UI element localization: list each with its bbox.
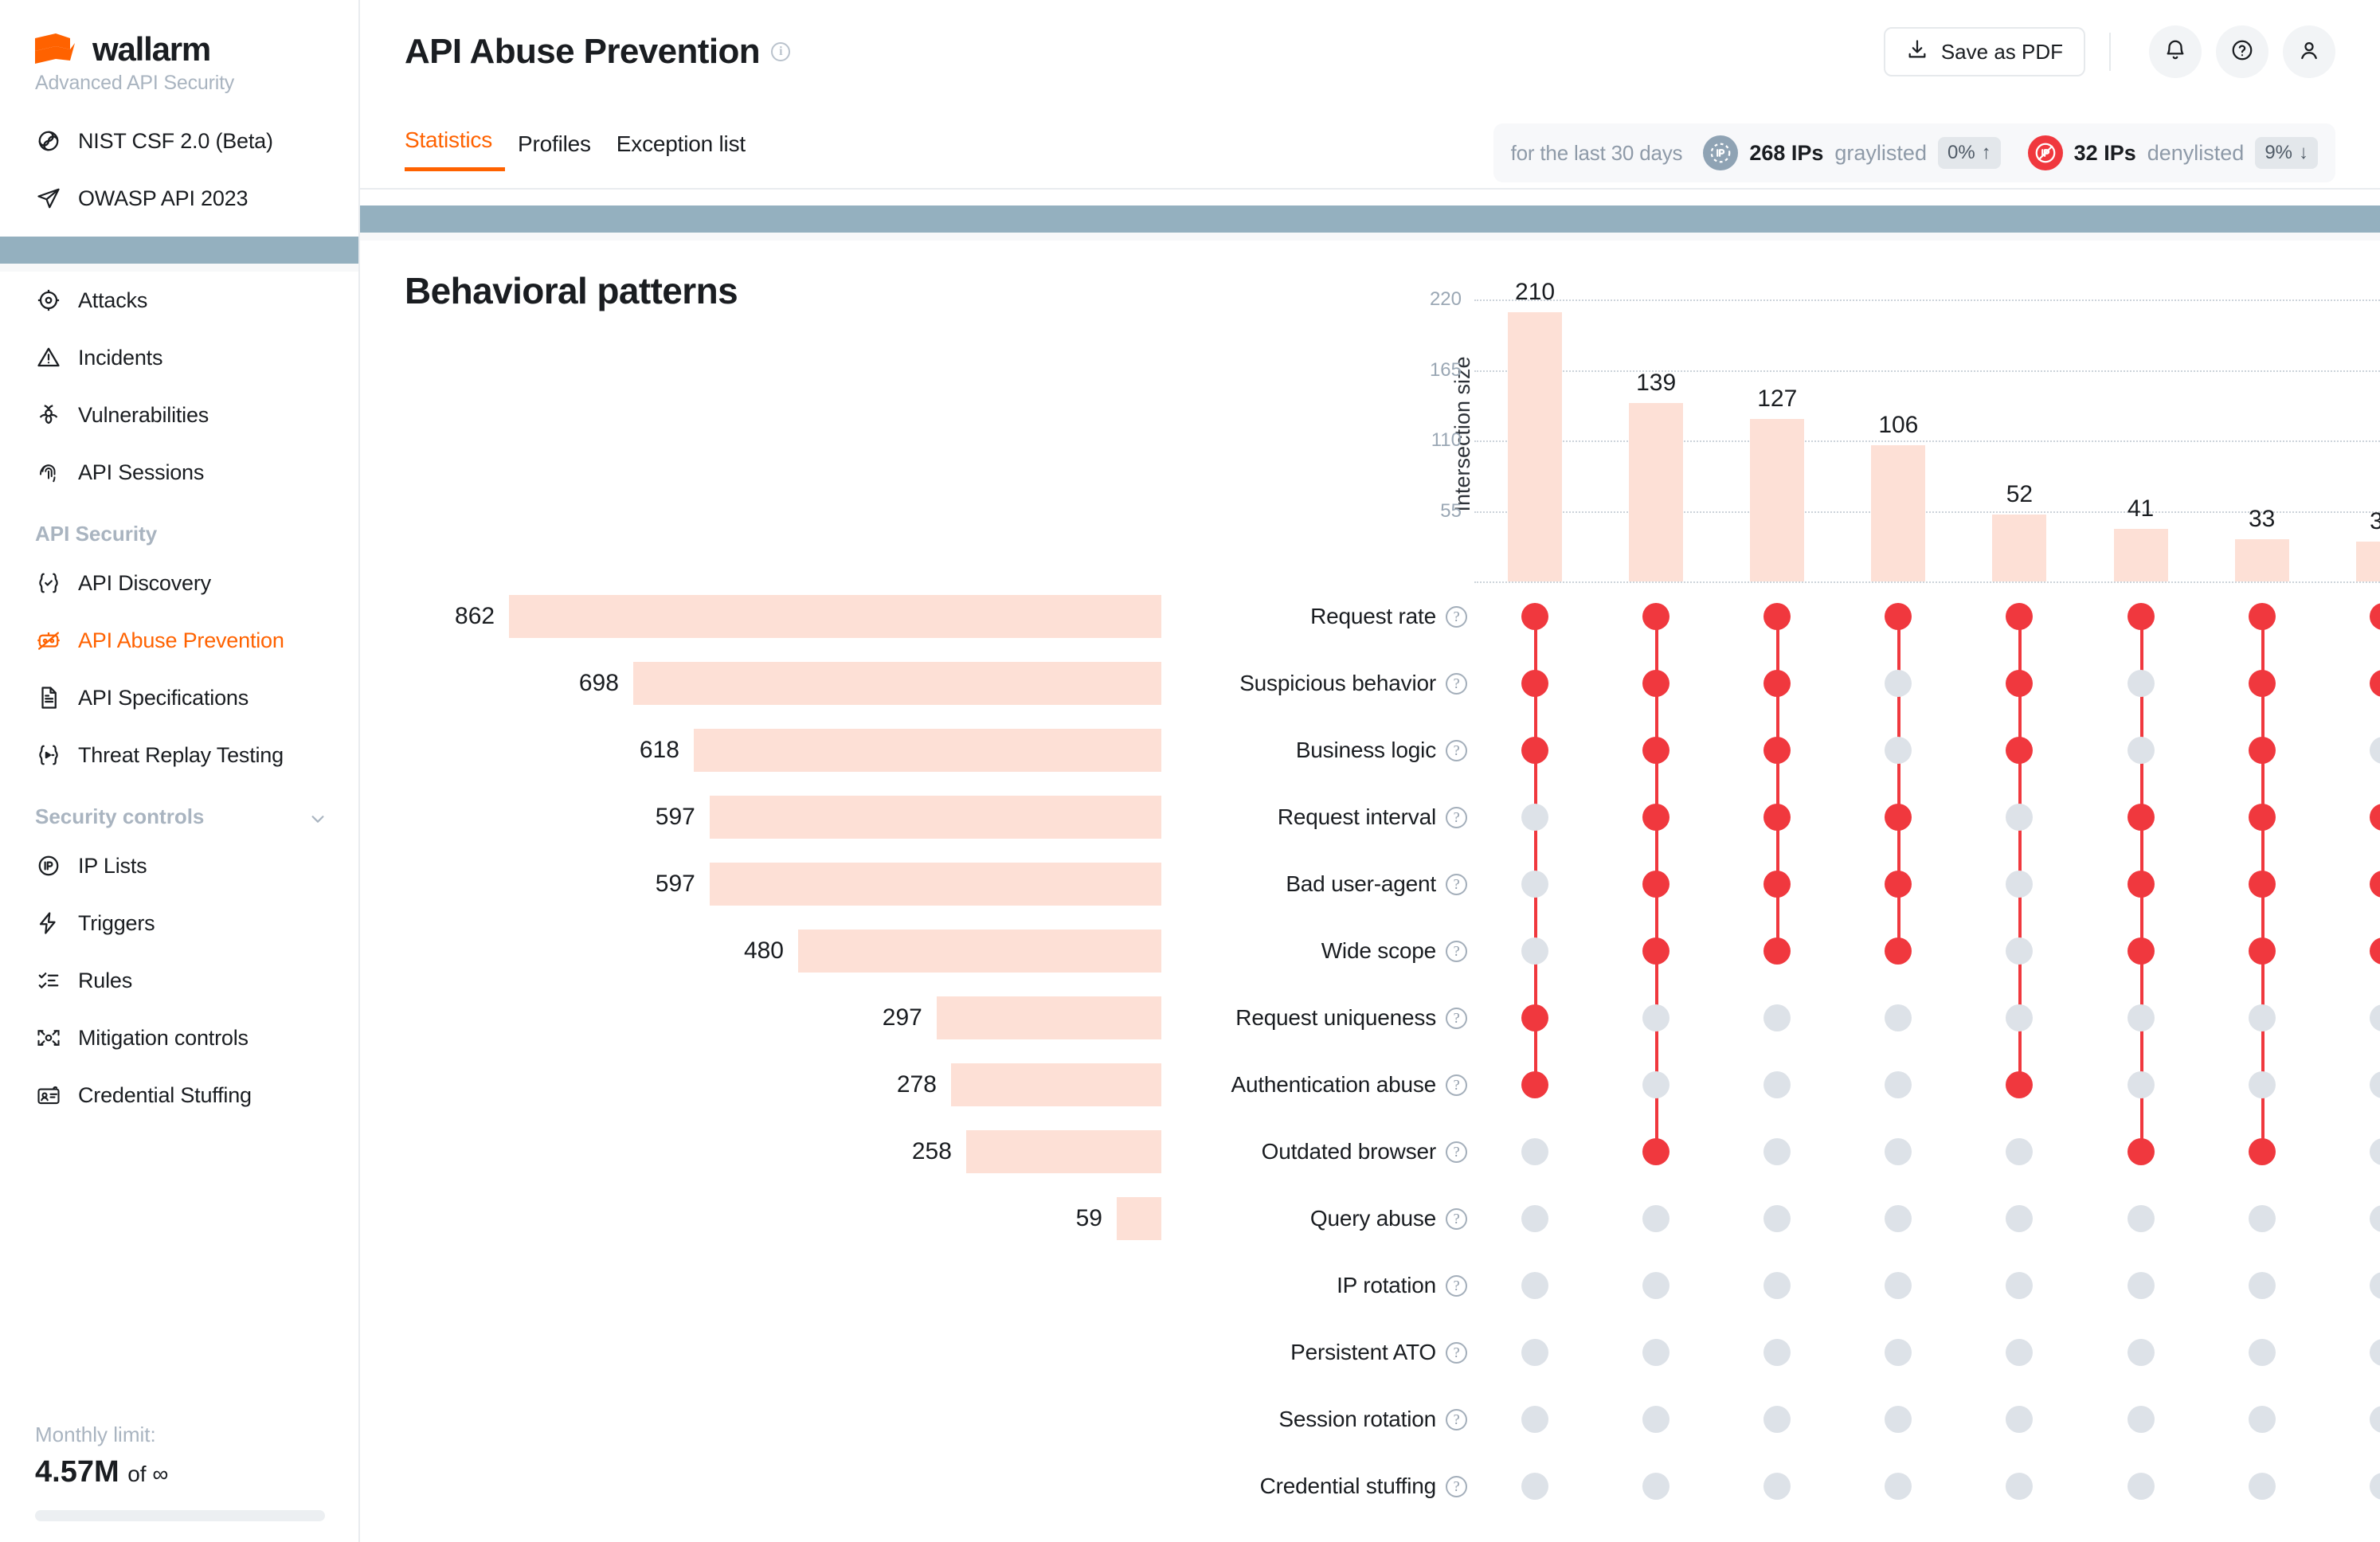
sidebar-item-triggers[interactable]: Triggers	[0, 894, 358, 952]
bot-disabled-icon	[35, 627, 62, 654]
matrix-dot-inactive[interactable]	[2128, 1473, 2155, 1500]
y-tick-label: 110	[1431, 429, 1462, 452]
category-labels: Request rate?Suspicious behavior?Busines…	[1165, 583, 1467, 1520]
sidebar-divider-band	[0, 237, 358, 264]
matrix-dot-inactive[interactable]	[1642, 1071, 1670, 1098]
header-divider	[360, 188, 2380, 190]
intersection-bar-value: 210	[1515, 279, 1555, 306]
category-label: IP rotation	[1337, 1273, 1436, 1298]
wallarm-wordmark: wallarm	[92, 30, 210, 68]
matrix-dot-active[interactable]	[1521, 737, 1548, 764]
brand-tagline: Advanced API Security	[35, 72, 358, 95]
sidebar-label: Attacks	[78, 288, 147, 313]
matrix-dot-inactive[interactable]	[1885, 1473, 1912, 1500]
matrix-dot-active[interactable]	[2249, 871, 2276, 898]
help-tooltip-icon[interactable]: ?	[1446, 1476, 1467, 1497]
matrix-dot-active[interactable]	[1885, 937, 1912, 965]
info-icon[interactable]: i	[771, 42, 790, 61]
matrix-dot-inactive[interactable]	[1521, 1138, 1548, 1165]
logo-row[interactable]: wallarm	[35, 30, 358, 68]
matrix-dot-inactive[interactable]	[2006, 1406, 2033, 1433]
help-tooltip-icon[interactable]: ?	[1446, 606, 1467, 628]
sidebar-label: NIST CSF 2.0 (Beta)	[78, 129, 273, 154]
tab-exception-list[interactable]: Exception list	[604, 131, 758, 171]
set-size-bar-value: 862	[455, 603, 495, 630]
question-circle-icon	[2230, 38, 2254, 66]
braces-check-icon	[35, 569, 62, 597]
help-tooltip-icon[interactable]: ?	[1446, 807, 1467, 828]
set-size-chart: 1K7505002500 862698618597597480297278258…	[405, 583, 1161, 1507]
matrix-dot-active[interactable]	[1763, 871, 1791, 898]
category-label-row: Business logic?	[1165, 717, 1467, 784]
intersection-bar[interactable]: 127	[1750, 419, 1804, 581]
sidebar-label: API Abuse Prevention	[78, 628, 284, 653]
matrix-dot-inactive[interactable]	[2128, 1205, 2155, 1232]
sidebar-item-nist-csf[interactable]: NIST CSF 2.0 (Beta)	[0, 112, 358, 170]
category-label: Request rate	[1310, 604, 1436, 629]
matrix-column[interactable]	[1752, 583, 1803, 1507]
matrix-dot-active[interactable]	[2006, 603, 2033, 630]
category-label: Request interval	[1278, 804, 1436, 830]
monthly-limit-value: 4.57M	[35, 1455, 119, 1489]
matrix-dot-inactive[interactable]	[1521, 871, 1548, 898]
help-tooltip-icon[interactable]: ?	[1446, 1409, 1467, 1430]
graylisted-word: graylisted	[1834, 141, 1927, 166]
matrix-dot-inactive[interactable]	[1642, 1004, 1670, 1031]
sidebar-label: API Specifications	[78, 686, 249, 710]
y-tick-label: 165	[1430, 359, 1462, 382]
help-tooltip-icon[interactable]: ?	[1446, 1275, 1467, 1297]
graylisted-delta-chip: 0% ↑	[1938, 137, 2001, 169]
sidebar-label: API Discovery	[78, 571, 211, 596]
matrix-dot-active[interactable]	[2128, 871, 2155, 898]
topbar-actions: Save as PDF	[1884, 25, 2335, 78]
matrix-dot-active[interactable]	[1763, 937, 1791, 965]
matrix-dot-active[interactable]	[1885, 603, 1912, 630]
category-label-row: Outdated browser?	[1165, 1118, 1467, 1185]
category-label: Credential stuffing	[1260, 1474, 1436, 1499]
matrix-dot-inactive[interactable]	[2128, 1071, 2155, 1098]
biohazard-icon	[35, 401, 62, 429]
matrix-dot-inactive[interactable]	[2370, 1004, 2380, 1031]
period-label: for the last 30 days	[1511, 141, 1683, 166]
intersection-size-chart: Intersection size 5511016522021013912710…	[1474, 287, 2380, 581]
category-label-row: Wide scope?	[1165, 918, 1467, 984]
matrix-connector-line	[1897, 616, 1900, 951]
matrix-dot-inactive[interactable]	[2006, 871, 2033, 898]
gridline	[1474, 511, 2380, 513]
category-label: Authentication abuse	[1231, 1072, 1436, 1098]
matrix-column[interactable]	[2116, 583, 2167, 1507]
matrix-dot-active[interactable]	[2249, 804, 2276, 831]
category-label-row: Bad user-agent?	[1165, 851, 1467, 918]
matrix-dot-active[interactable]	[1521, 1004, 1548, 1031]
set-size-bar[interactable]: 258	[966, 1130, 1161, 1173]
matrix-dot-inactive[interactable]	[2006, 937, 2033, 965]
matrix-dot-inactive[interactable]	[2128, 1339, 2155, 1366]
sidebar-item-api-abuse-prevention[interactable]: API Abuse Prevention	[0, 612, 358, 669]
help-tooltip-icon[interactable]: ?	[1446, 874, 1467, 895]
accent-band	[360, 205, 2380, 233]
matrix-dot-inactive[interactable]	[1642, 1272, 1670, 1299]
help-tooltip-icon[interactable]: ?	[1446, 1074, 1467, 1096]
matrix-column[interactable]	[1509, 583, 1560, 1507]
graylisted-delta: 0%	[1947, 142, 1975, 164]
set-size-bar[interactable]: 597	[710, 863, 1161, 906]
matrix-dot-active[interactable]	[1521, 1071, 1548, 1098]
arrow-up-icon: ↑	[1982, 142, 1991, 164]
sidebar-label: Mitigation controls	[78, 1026, 249, 1051]
matrix-dot-inactive[interactable]	[2006, 1004, 2033, 1031]
set-size-bar-value: 597	[656, 804, 695, 831]
help-tooltip-icon[interactable]: ?	[1446, 941, 1467, 962]
matrix-dot-inactive[interactable]	[2249, 1473, 2276, 1500]
monthly-limit-label: Monthly limit:	[35, 1423, 325, 1447]
sidebar-label: Vulnerabilities	[78, 403, 209, 428]
sidebar-item-incidents[interactable]: Incidents	[0, 329, 358, 386]
sidebar-item-mitigation-controls[interactable]: Mitigation controls	[0, 1009, 358, 1066]
notifications-button[interactable]	[2149, 25, 2202, 78]
matrix-dot-inactive[interactable]	[1763, 1071, 1791, 1098]
sidebar-top-nav: NIST CSF 2.0 (Beta) OWASP API 2023	[0, 112, 358, 227]
set-size-bar[interactable]: 480	[798, 930, 1161, 973]
matrix-dot-inactive[interactable]	[1521, 1473, 1548, 1500]
sidebar-label: Incidents	[78, 346, 162, 370]
matrix-column[interactable]	[2237, 583, 2288, 1507]
matrix-dot-active[interactable]	[2128, 603, 2155, 630]
set-size-bar-value: 258	[912, 1138, 952, 1165]
set-size-bar[interactable]: 698	[633, 662, 1161, 705]
matrix-dot-inactive[interactable]	[1885, 1272, 1912, 1299]
matrix-column[interactable]	[1994, 583, 2045, 1507]
matrix-dot-active[interactable]	[2249, 603, 2276, 630]
sidebar-security-controls-nav: IP Lists Triggers Rules	[0, 837, 358, 1124]
set-size-bar[interactable]: 597	[710, 796, 1161, 839]
sidebar-item-vulnerabilities[interactable]: Vulnerabilities	[0, 386, 358, 444]
matrix-dot-inactive[interactable]	[1642, 1339, 1670, 1366]
help-tooltip-icon[interactable]: ?	[1446, 1342, 1467, 1364]
intersection-bar[interactable]: 33	[2235, 539, 2289, 581]
tab-statistics[interactable]: Statistics	[405, 127, 505, 171]
main-area: API Abuse Prevention i Save as PDF	[360, 0, 2380, 1542]
matrix-dot-inactive[interactable]	[2249, 1205, 2276, 1232]
set-size-bar[interactable]: 862	[509, 595, 1161, 638]
matrix-dot-active[interactable]	[2370, 871, 2380, 898]
category-label-row: Query abuse?	[1165, 1185, 1467, 1252]
denylisted-word: denylisted	[2147, 141, 2245, 166]
id-card-icon	[35, 1082, 62, 1109]
sidebar-item-api-specifications[interactable]: API Specifications	[0, 669, 358, 726]
denylisted-delta: 9%	[2265, 142, 2292, 164]
matrix-dot-inactive[interactable]	[1763, 1272, 1791, 1299]
intersection-bar[interactable]: 41	[2114, 529, 2168, 581]
matrix-dot-active[interactable]	[2370, 603, 2380, 630]
nist-icon	[35, 127, 62, 155]
matrix-dot-inactive[interactable]	[1885, 737, 1912, 764]
matrix-connector-line	[1776, 616, 1779, 951]
matrix-dot-active[interactable]	[2370, 670, 2380, 697]
matrix-dot-inactive[interactable]	[2249, 1272, 2276, 1299]
fingerprint-icon	[35, 459, 62, 486]
matrix-dot-inactive[interactable]	[1885, 670, 1912, 697]
set-size-bar-value: 618	[640, 737, 679, 764]
matrix-dot-inactive[interactable]	[2128, 670, 2155, 697]
matrix-dot-inactive[interactable]	[2128, 1406, 2155, 1433]
matrix-column[interactable]	[1630, 583, 1681, 1507]
matrix-column[interactable]	[2358, 583, 2380, 1507]
sidebar-item-threat-replay-testing[interactable]: Threat Replay Testing	[0, 726, 358, 784]
matrix-dot-inactive[interactable]	[1763, 1004, 1791, 1031]
matrix-dot-active[interactable]	[2006, 1071, 2033, 1098]
matrix-dot-inactive[interactable]	[1885, 1205, 1912, 1232]
matrix-dot-active[interactable]	[1521, 670, 1548, 697]
denylisted-count: 32 IPs	[2074, 141, 2136, 166]
matrix-dot-active[interactable]	[2249, 937, 2276, 965]
matrix-dot-active[interactable]	[2006, 737, 2033, 764]
category-label-row: Request rate?	[1165, 583, 1467, 650]
matrix-dot-inactive[interactable]	[2370, 1205, 2380, 1232]
sidebar-item-api-sessions[interactable]: API Sessions	[0, 444, 358, 501]
matrix-dot-inactive[interactable]	[1521, 1339, 1548, 1366]
sidebar-label: API Sessions	[78, 460, 204, 485]
matrix-dot-inactive[interactable]	[1763, 1205, 1791, 1232]
matrix-dot-inactive[interactable]	[1885, 1071, 1912, 1098]
matrix-dot-active[interactable]	[1521, 603, 1548, 630]
matrix-dot-active[interactable]	[1763, 670, 1791, 697]
matrix-dot-active[interactable]	[1885, 871, 1912, 898]
intersection-bar[interactable]: 210	[1508, 312, 1562, 581]
matrix-dot-active[interactable]	[2128, 1138, 2155, 1165]
matrix-dot-inactive[interactable]	[1521, 1272, 1548, 1299]
sidebar-main-nav: Attacks Incidents	[0, 272, 358, 501]
matrix-dot-active[interactable]	[2128, 804, 2155, 831]
sidebar-item-rules[interactable]: Rules	[0, 952, 358, 1009]
topbar: API Abuse Prevention i Save as PDF	[360, 0, 2380, 112]
matrix-dot-inactive[interactable]	[2370, 1138, 2380, 1165]
matrix-dot-active[interactable]	[2370, 804, 2380, 831]
denylisted-delta-chip: 9% ↓	[2255, 137, 2318, 169]
matrix-dot-inactive[interactable]	[1642, 1406, 1670, 1433]
help-tooltip-icon[interactable]: ?	[1446, 740, 1467, 761]
sidebar-section-security-controls[interactable]: Security controls	[0, 784, 358, 837]
document-icon	[35, 684, 62, 711]
gridline	[1474, 440, 2380, 442]
help-tooltip-icon[interactable]: ?	[1446, 673, 1467, 695]
y-tick-label: 55	[1440, 500, 1462, 522]
matrix-dot-inactive[interactable]	[2006, 1473, 2033, 1500]
sidebar-item-ip-lists[interactable]: IP Lists	[0, 837, 358, 894]
user-icon	[2297, 38, 2321, 66]
monthly-limit-of: of ∞	[127, 1462, 168, 1486]
account-button[interactable]	[2283, 25, 2335, 78]
matrix-dot-inactive[interactable]	[2249, 1406, 2276, 1433]
matrix-dot-inactive[interactable]	[1885, 1004, 1912, 1031]
sidebar-item-credential-stuffing[interactable]: Credential Stuffing	[0, 1066, 358, 1124]
matrix-dot-inactive[interactable]	[2006, 1205, 2033, 1232]
category-label-row: IP rotation?	[1165, 1252, 1467, 1319]
sidebar-item-attacks[interactable]: Attacks	[0, 272, 358, 329]
matrix-dot-inactive[interactable]	[2128, 1004, 2155, 1031]
matrix-dot-inactive[interactable]	[1763, 1339, 1791, 1366]
matrix-dot-inactive[interactable]	[2370, 1473, 2380, 1500]
mitigation-icon	[35, 1024, 62, 1051]
matrix-dot-inactive[interactable]	[2006, 1272, 2033, 1299]
matrix-dot-active[interactable]	[1885, 804, 1912, 831]
category-label-row: Persistent ATO?	[1165, 1319, 1467, 1386]
intersection-bar[interactable]: 52	[1992, 515, 2046, 581]
category-label-row: Suspicious behavior?	[1165, 650, 1467, 717]
matrix-dot-inactive[interactable]	[1763, 1138, 1791, 1165]
sidebar-divider-shadow	[0, 264, 358, 272]
category-label: Persistent ATO	[1290, 1340, 1436, 1365]
set-size-bar[interactable]: 59	[1117, 1197, 1161, 1240]
sidebar-footer: Monthly limit: 4.57M of ∞	[0, 1423, 360, 1542]
category-label-row: Authentication abuse?	[1165, 1051, 1467, 1118]
matrix-dot-active[interactable]	[2128, 937, 2155, 965]
matrix-dot-active[interactable]	[1763, 804, 1791, 831]
category-label: Bad user-agent	[1286, 871, 1436, 897]
help-tooltip-icon[interactable]: ?	[1446, 1208, 1467, 1230]
sidebar-label: Threat Replay Testing	[78, 743, 284, 768]
set-size-bar[interactable]: 618	[694, 729, 1161, 772]
sidebar-item-api-discovery[interactable]: API Discovery	[0, 554, 358, 612]
set-size-bar[interactable]: 297	[937, 996, 1161, 1039]
matrix-dot-inactive[interactable]	[1763, 1473, 1791, 1500]
category-label: Business logic	[1296, 738, 1436, 763]
graylisted-count: 268 IPs	[1749, 141, 1823, 166]
denylisted-stat[interactable]: 32 IPs denylisted 9% ↓	[2028, 135, 2318, 170]
app-root: wallarm Advanced API Security NIST CSF 2…	[0, 0, 2380, 1542]
intersection-matrix	[1474, 583, 2380, 1507]
matrix-dot-active[interactable]	[2249, 670, 2276, 697]
page-title-text: API Abuse Prevention	[405, 32, 760, 72]
matrix-dot-active[interactable]	[1642, 603, 1670, 630]
matrix-dot-inactive[interactable]	[1885, 1339, 1912, 1366]
graylisted-stat[interactable]: 268 IPs graylisted 0% ↑	[1703, 135, 2000, 170]
sidebar-label: Credential Stuffing	[78, 1083, 252, 1108]
matrix-dot-active[interactable]	[1763, 603, 1791, 630]
download-icon	[1906, 38, 1928, 66]
set-size-bar-value: 480	[744, 937, 784, 965]
intersection-bar[interactable]: 106	[1871, 445, 1925, 581]
upset-plot: Intersection size 5511016522021013912710…	[360, 241, 2380, 1542]
matrix-dot-inactive[interactable]	[1521, 1406, 1548, 1433]
matrix-dot-inactive[interactable]	[2006, 804, 2033, 831]
matrix-dot-inactive[interactable]	[1521, 1205, 1548, 1232]
sidebar-label: Rules	[78, 969, 132, 993]
matrix-dot-inactive[interactable]	[2370, 1339, 2380, 1366]
chevron-down-icon	[309, 808, 327, 826]
matrix-dot-inactive[interactable]	[2370, 1071, 2380, 1098]
tab-profiles[interactable]: Profiles	[505, 131, 604, 171]
matrix-dot-inactive[interactable]	[1885, 1406, 1912, 1433]
matrix-dot-active[interactable]	[2006, 670, 2033, 697]
matrix-dot-inactive[interactable]	[2006, 1339, 2033, 1366]
intersection-bar-value: 31	[2370, 508, 2380, 535]
matrix-dot-inactive[interactable]	[1521, 937, 1548, 965]
ip-graylist-icon	[1703, 135, 1738, 170]
matrix-dot-active[interactable]	[1763, 737, 1791, 764]
matrix-dot-active[interactable]	[1642, 804, 1670, 831]
ip-circle-icon	[35, 852, 62, 879]
section-label: API Security	[35, 522, 157, 546]
matrix-dot-inactive[interactable]	[1521, 804, 1548, 831]
lightning-icon	[35, 910, 62, 937]
set-size-bar[interactable]: 278	[951, 1063, 1161, 1106]
matrix-dot-inactive[interactable]	[2249, 1339, 2276, 1366]
help-tooltip-icon[interactable]: ?	[1446, 1141, 1467, 1163]
matrix-dot-inactive[interactable]	[2128, 1272, 2155, 1299]
matrix-dot-active[interactable]	[2370, 937, 2380, 965]
matrix-dot-active[interactable]	[2249, 1138, 2276, 1165]
help-button[interactable]	[2216, 25, 2268, 78]
section-label: Security controls	[35, 804, 204, 829]
category-label: Session rotation	[1278, 1407, 1436, 1432]
help-tooltip-icon[interactable]: ?	[1446, 1008, 1467, 1029]
save-as-pdf-button[interactable]: Save as PDF	[1884, 27, 2085, 76]
intersection-bar[interactable]: 139	[1629, 403, 1683, 581]
matrix-dot-inactive[interactable]	[2128, 737, 2155, 764]
matrix-column[interactable]	[1873, 583, 1924, 1507]
wallarm-logo-icon	[35, 33, 81, 65]
category-label: Outdated browser	[1262, 1139, 1436, 1164]
matrix-dot-inactive[interactable]	[2006, 1138, 2033, 1165]
matrix-dot-inactive[interactable]	[2249, 1071, 2276, 1098]
matrix-dot-inactive[interactable]	[1642, 1473, 1670, 1500]
intersection-bar-value: 106	[1878, 412, 1918, 439]
matrix-dot-inactive[interactable]	[2370, 1272, 2380, 1299]
y-tick-label: 220	[1430, 288, 1462, 311]
matrix-dot-active[interactable]	[2249, 737, 2276, 764]
matrix-dot-inactive[interactable]	[2249, 1004, 2276, 1031]
intersection-bar-value: 41	[2128, 495, 2154, 522]
intersection-bar[interactable]: 31	[2356, 542, 2380, 581]
matrix-dot-active[interactable]	[1642, 871, 1670, 898]
matrix-dot-inactive[interactable]	[1885, 1138, 1912, 1165]
intersection-bar-value: 127	[1757, 385, 1797, 413]
monthly-limit-value-row: 4.57M of ∞	[35, 1455, 325, 1489]
category-label-row: Request uniqueness?	[1165, 984, 1467, 1051]
sidebar-label: Triggers	[78, 911, 155, 936]
page-title: API Abuse Prevention i	[405, 32, 790, 72]
warning-triangle-icon	[35, 344, 62, 371]
matrix-dot-inactive[interactable]	[1763, 1406, 1791, 1433]
matrix-dot-active[interactable]	[1642, 1138, 1670, 1165]
matrix-dot-inactive[interactable]	[2370, 1406, 2380, 1433]
sidebar: wallarm Advanced API Security NIST CSF 2…	[0, 0, 360, 1542]
sidebar-label: IP Lists	[78, 854, 147, 879]
matrix-dot-inactive[interactable]	[2370, 737, 2380, 764]
sidebar-item-owasp-api[interactable]: OWASP API 2023	[0, 170, 358, 227]
chart-content: Behavioral patterns Intersection size 55…	[360, 241, 2380, 1542]
tab-bar: Statistics Profiles Exception list	[405, 127, 758, 171]
matrix-dot-active[interactable]	[1642, 937, 1670, 965]
set-size-bar-value: 278	[897, 1071, 937, 1098]
category-label-row: Request interval?	[1165, 784, 1467, 851]
matrix-dot-active[interactable]	[1642, 737, 1670, 764]
checklist-icon	[35, 967, 62, 994]
braces-play-icon	[35, 742, 62, 769]
gridline	[1474, 370, 2380, 372]
topbar-divider	[2109, 33, 2111, 71]
set-size-bar-value: 698	[579, 670, 619, 697]
ip-stats-bar: for the last 30 days 268 IPs graylisted …	[1493, 123, 2335, 182]
category-label: Wide scope	[1321, 938, 1436, 964]
arrow-down-icon: ↓	[2299, 142, 2308, 164]
matrix-dot-inactive[interactable]	[1642, 1205, 1670, 1232]
intersection-bar-value: 33	[2249, 506, 2275, 533]
matrix-dot-active[interactable]	[1642, 670, 1670, 697]
